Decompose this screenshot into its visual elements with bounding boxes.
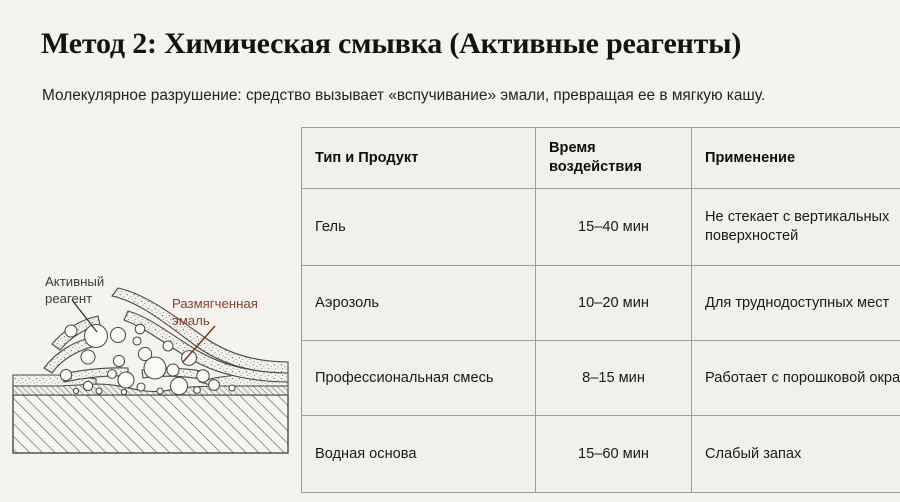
table-row: Водная основа 15–60 мин Слабый запах — [302, 416, 900, 493]
cell-application: Работает с порошковой окраской — [692, 341, 900, 416]
table-row: Аэрозоль 10–20 мин Для труднодоступных м… — [302, 266, 900, 341]
label-active-reagent: Активный реагент — [45, 274, 104, 307]
cell-application: Слабый запах — [692, 416, 900, 493]
substrate-layer — [13, 395, 288, 453]
cell-type-product: Профессиональная смесь — [302, 341, 536, 416]
label-softened-enamel-line2: эмаль — [172, 313, 258, 330]
label-active-reagent-line2: реагент — [45, 291, 104, 308]
slide-root: Метод 2: Химическая смывка (Активные реа… — [0, 0, 900, 502]
page-subtitle: Молекулярное разрушение: средство вызыва… — [42, 84, 852, 107]
cell-type-product: Аэрозоль — [302, 266, 536, 341]
header-type-product: Тип и Продукт — [302, 128, 536, 189]
cell-type-product: Гель — [302, 189, 536, 266]
cell-exposure-time: 15–40 мин — [536, 189, 692, 266]
page-title: Метод 2: Химическая смывка (Активные реа… — [41, 27, 871, 61]
table-row: Профессиональная смесь 8–15 мин Работает… — [302, 341, 900, 416]
cell-exposure-time: 10–20 мин — [536, 266, 692, 341]
cell-exposure-time: 8–15 мин — [536, 341, 692, 416]
cell-type-product: Водная основа — [302, 416, 536, 493]
table-row: Гель 15–40 мин Не стекает с вертикальных… — [302, 189, 900, 266]
header-application: Применение — [692, 128, 900, 189]
cell-application: Не стекает с вертикальных поверхностей — [692, 189, 900, 266]
cell-exposure-time: 15–60 мин — [536, 416, 692, 493]
label-softened-enamel: Размягченная эмаль — [172, 296, 258, 329]
label-active-reagent-line1: Активный — [45, 274, 104, 291]
cell-application: Для труднодоступных мест — [692, 266, 900, 341]
table-header-row: Тип и Продукт Время воздействия Применен… — [302, 128, 900, 189]
header-exposure-time: Время воздействия — [536, 128, 692, 189]
label-softened-enamel-line1: Размягченная — [172, 296, 258, 313]
spec-table: Тип и Продукт Время воздействия Применен… — [301, 127, 900, 493]
cross-section-diagram: Активный реагент Размягченная эмаль — [0, 258, 300, 463]
spec-table-wrapper: Тип и Продукт Время воздействия Применен… — [301, 127, 868, 493]
